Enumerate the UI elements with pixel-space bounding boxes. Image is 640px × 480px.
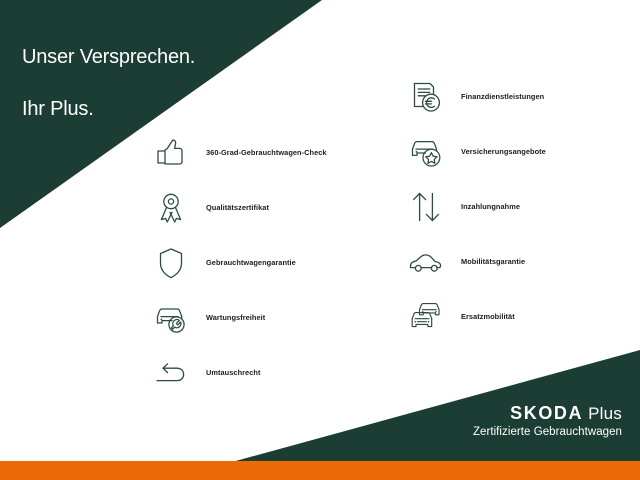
car-star-icon	[403, 129, 449, 175]
car-wrench-icon	[148, 295, 194, 341]
logo-tagline: Zertifizierte Gebrauchtwagen	[473, 426, 622, 440]
feature-item-financial-services: Finanzdienstleistungen	[403, 70, 640, 124]
orange-footer-bar	[0, 461, 640, 480]
feature-list-left: 360-Grad-Gebrauchtwagen-Check Qualitätsz…	[148, 126, 388, 401]
feature-item-trade-in: Inzahlungnahme	[403, 180, 640, 234]
feature-label: Ersatzmobilität	[461, 313, 515, 321]
skoda-plus-logo: SKODA Plus Zertifizierte Gebrauchtwagen	[473, 404, 622, 440]
feature-item-quality-certificate: Qualitätszertifikat	[148, 181, 388, 235]
headline-line-2: Ihr Plus.	[22, 96, 195, 122]
feature-label: Qualitätszertifikat	[206, 204, 269, 212]
feature-list-right: Finanzdienstleistungen Versicherungsange…	[403, 70, 640, 345]
car-silhouette-icon	[403, 239, 449, 285]
feature-item-insurance-offers: Versicherungsangebote	[403, 125, 640, 179]
feature-label: Wartungsfreiheit	[206, 314, 265, 322]
two-cars-icon	[403, 294, 449, 340]
feature-label: 360-Grad-Gebrauchtwagen-Check	[206, 149, 327, 157]
up-down-arrows-icon	[403, 184, 449, 230]
logo-suffix-text: Plus	[588, 405, 622, 422]
feature-item-used-car-warranty: Gebrauchtwagengarantie	[148, 236, 388, 290]
feature-label: Inzahlungnahme	[461, 203, 520, 211]
feature-label: Versicherungsangebote	[461, 148, 546, 156]
feature-item-return-right: Umtauschrecht	[148, 346, 388, 400]
logo-wordmark: SKODA Plus	[473, 404, 622, 424]
award-rosette-icon	[148, 185, 194, 231]
feature-item-360-check: 360-Grad-Gebrauchtwagen-Check	[148, 126, 388, 180]
logo-brand-text: SKODA	[510, 404, 583, 422]
promo-banner: Unser Versprechen. Ihr Plus. 360-Grad-Ge…	[0, 0, 640, 480]
shield-icon	[148, 240, 194, 286]
feature-label: Gebrauchtwagengarantie	[206, 259, 296, 267]
return-arrow-icon	[148, 350, 194, 396]
feature-label: Umtauschrecht	[206, 369, 260, 377]
feature-label: Finanzdienstleistungen	[461, 93, 544, 101]
feature-item-mobility-guarantee: Mobilitätsgarantie	[403, 235, 640, 289]
feature-item-replacement-mobility: Ersatzmobilität	[403, 290, 640, 344]
headline-line-1: Unser Versprechen.	[22, 44, 195, 70]
thumbs-up-icon	[148, 130, 194, 176]
feature-item-maintenance-free: Wartungsfreiheit	[148, 291, 388, 345]
document-euro-icon	[403, 74, 449, 120]
feature-label: Mobilitätsgarantie	[461, 258, 525, 266]
